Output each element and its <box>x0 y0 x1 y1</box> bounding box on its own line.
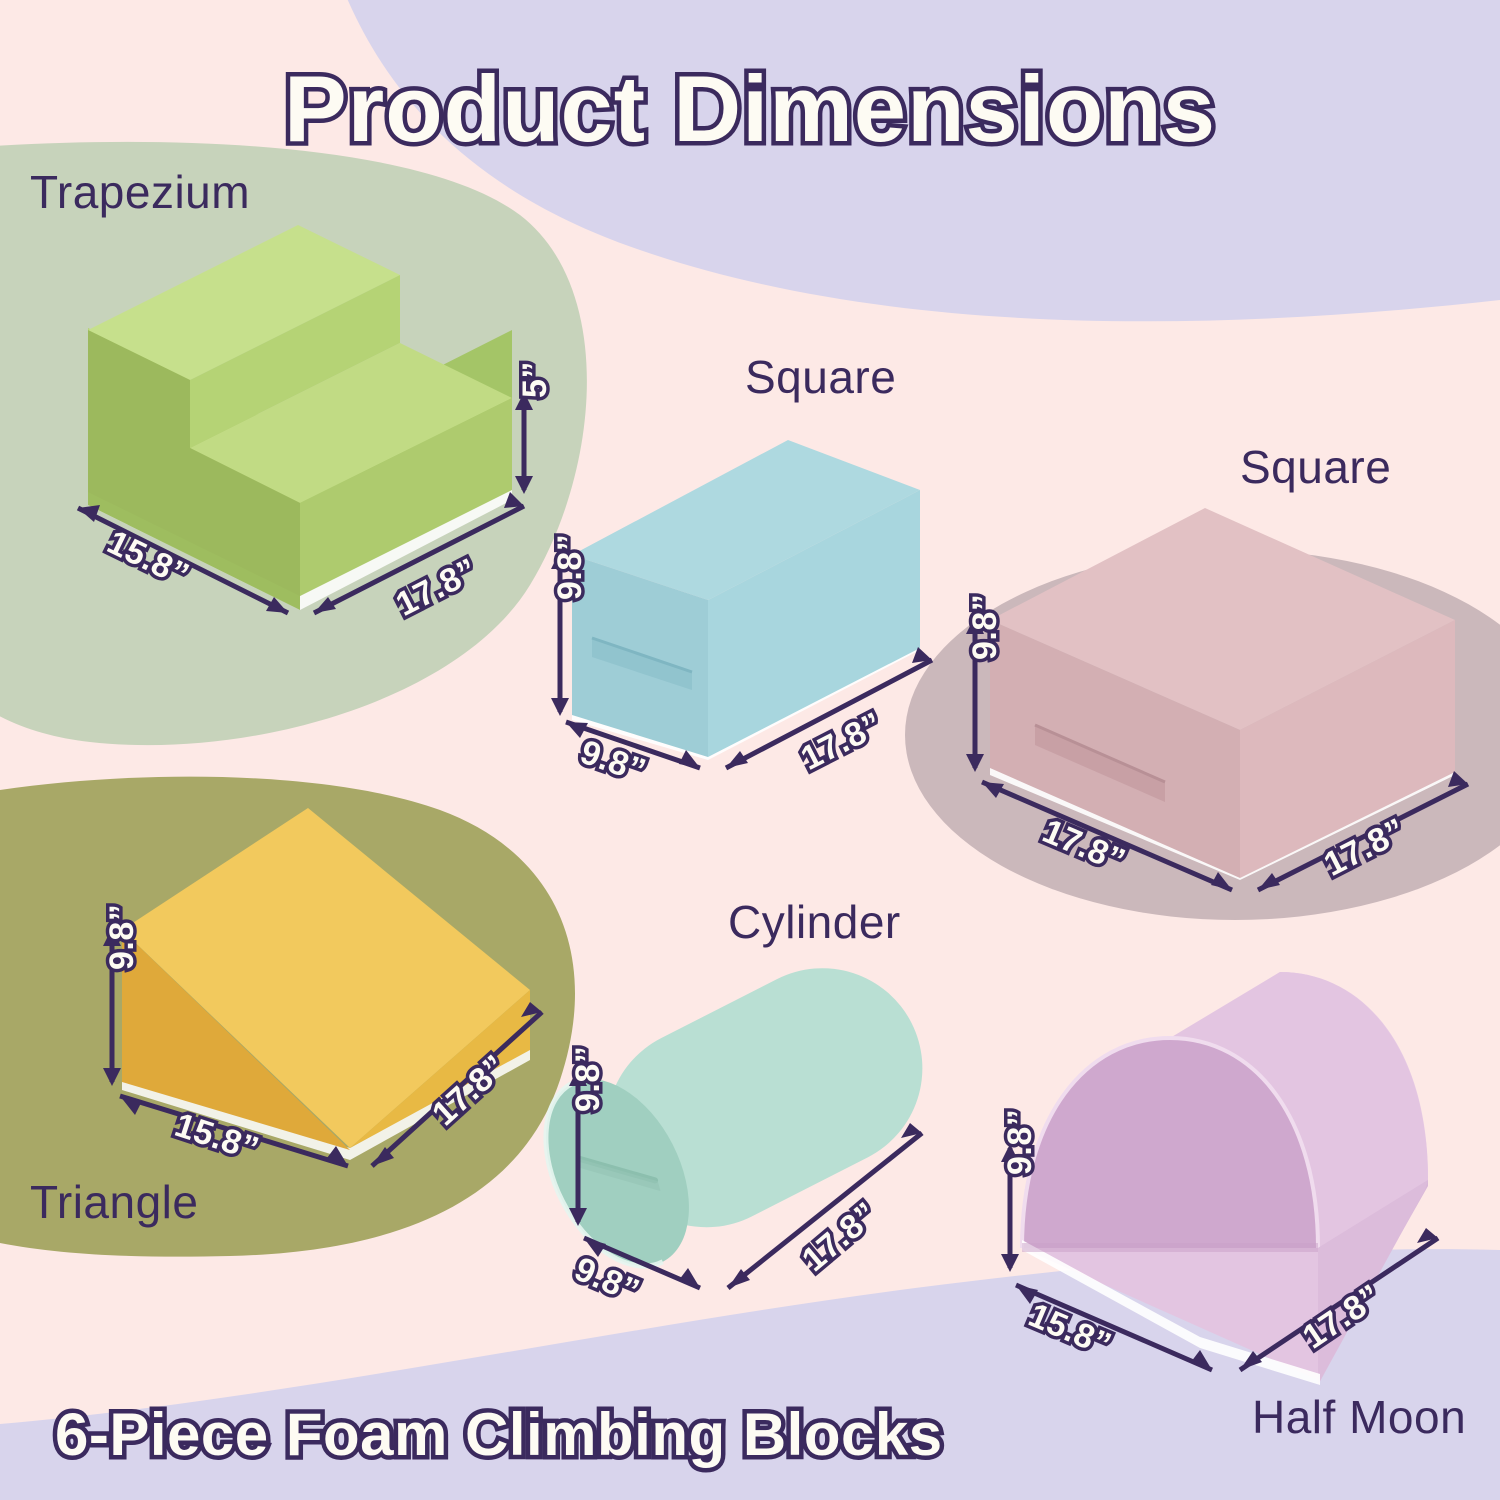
product-half-moon <box>0 0 1500 1500</box>
page-title: Product Dimensions <box>284 55 1216 163</box>
dim-half-moon-height: 9.8” <box>1001 1109 1040 1175</box>
label-half-moon: Half Moon <box>1252 1390 1466 1444</box>
footer-caption: 6-Piece Foam Climbing Blocks <box>55 1400 943 1469</box>
infographic-canvas: Trapezium 15.8” 17.8” 5” Square 9.8” <box>0 0 1500 1500</box>
